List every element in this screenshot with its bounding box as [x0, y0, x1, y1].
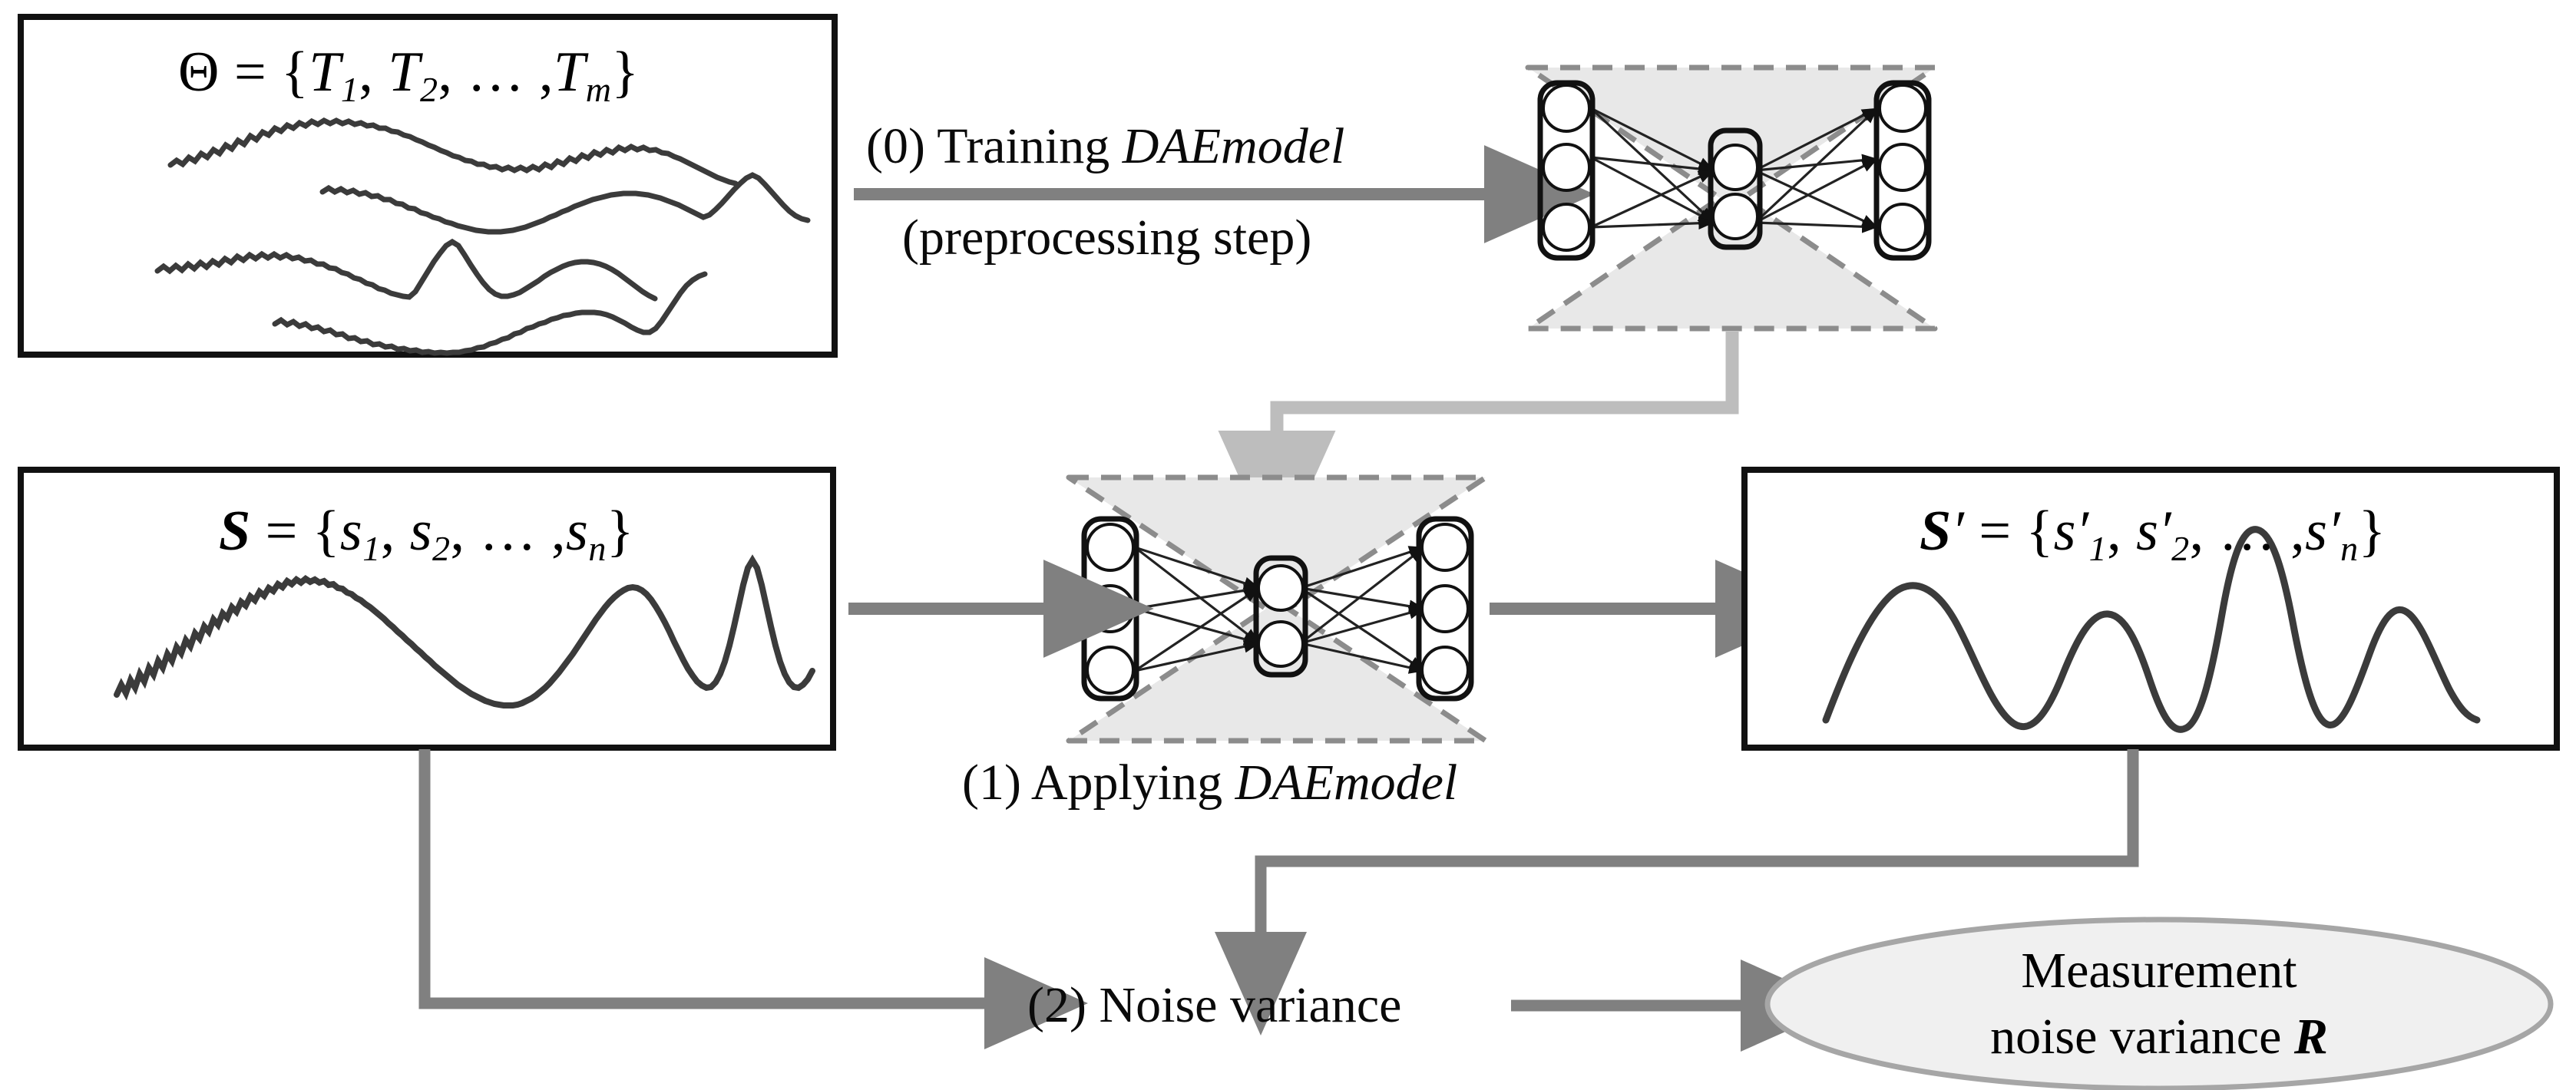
s-sep-1: , — [381, 500, 410, 563]
result-line-1: Measurement — [1852, 938, 2466, 1004]
step-0-emphasis: DAEmodel — [1123, 118, 1345, 174]
step-1-number: (1) — [962, 755, 1021, 811]
result-line-2-wrap: noise variance R — [1852, 1004, 2466, 1070]
step-1-text: Applying — [1031, 755, 1235, 811]
sn-subscript: n — [588, 529, 607, 568]
sprime-sep-1: , — [2107, 500, 2136, 563]
theta-symbol: Θ — [178, 41, 220, 104]
theta-equals: = { — [220, 41, 309, 104]
s-sep-2: , … , — [451, 500, 567, 563]
dae-network-applying — [1069, 477, 1486, 741]
arrow-model-transfer — [1277, 332, 1732, 444]
s2prime-prime: ′ — [2158, 500, 2171, 563]
snprime-prime: ′ — [2327, 500, 2340, 563]
step-2-text: Noise variance — [1099, 977, 1401, 1033]
result-line-2: noise variance — [1990, 1009, 2294, 1065]
sprime-equals: = { — [1964, 500, 2053, 563]
theta-sep-1: , — [359, 41, 388, 104]
s1prime-subscript: 1 — [2089, 529, 2108, 568]
s2prime-symbol: s — [2136, 500, 2158, 563]
t1-subscript: 1 — [341, 70, 359, 109]
snprime-symbol: s — [2305, 500, 2327, 563]
sprime-symbol: S — [1920, 500, 1952, 563]
tm-subscript: m — [586, 70, 612, 109]
input-signal-equation: S = {s1, s2, … ,sn} — [219, 499, 634, 569]
step-0-subtext: (preprocessing step) — [902, 209, 1311, 267]
connector-input-to-noise-variance — [425, 749, 998, 1003]
s1prime-symbol: s — [2054, 500, 2076, 563]
step-0-subtext-value: (preprocessing step) — [902, 210, 1311, 266]
tm-symbol: T — [554, 41, 586, 104]
output-signal-equation: S′ = {s′1, s′2, … ,s′n} — [1920, 499, 2386, 569]
diagram-canvas: Θ = {T1, T2, … ,Tm} (0) Training DAEmode… — [0, 0, 2576, 1090]
sn-symbol: s — [566, 500, 588, 563]
s2prime-subscript: 2 — [2171, 529, 2190, 568]
step-2-number: (2) — [1027, 977, 1086, 1033]
snprime-subscript: n — [2340, 529, 2359, 568]
result-text: Measurement noise variance R — [1852, 938, 2466, 1070]
step-0-label: (0) Training DAEmodel — [866, 117, 1344, 176]
t2-symbol: T — [388, 41, 420, 104]
sprime-close: } — [2359, 500, 2386, 563]
s2-subscript: 2 — [432, 529, 451, 568]
t2-subscript: 2 — [420, 70, 438, 109]
step-1-label: (1) Applying DAEmodel — [962, 754, 1457, 812]
step-1-emphasis: DAEmodel — [1235, 755, 1458, 811]
step-0-text: Training — [937, 118, 1122, 174]
training-set-equation: Θ = {T1, T2, … ,Tm} — [178, 40, 639, 110]
step-0-number: (0) — [866, 118, 925, 174]
theta-sep-2: , … , — [438, 41, 554, 104]
s-symbol: S — [219, 500, 251, 563]
s1-symbol: s — [340, 500, 362, 563]
sprime-prime: ′ — [1952, 500, 1965, 563]
s-equals: = { — [251, 500, 340, 563]
dae-network-training — [1528, 68, 1935, 329]
theta-close: } — [611, 41, 639, 104]
t1-symbol: T — [309, 41, 341, 104]
s2-symbol: s — [410, 500, 432, 563]
s-close: } — [607, 500, 634, 563]
s1-subscript: 1 — [362, 529, 381, 568]
result-symbol: R — [2294, 1009, 2328, 1065]
step-2-label: (2) Noise variance — [1027, 976, 1401, 1035]
s1prime-prime: ′ — [2076, 500, 2089, 563]
sprime-sep-2: , … , — [2190, 500, 2306, 563]
